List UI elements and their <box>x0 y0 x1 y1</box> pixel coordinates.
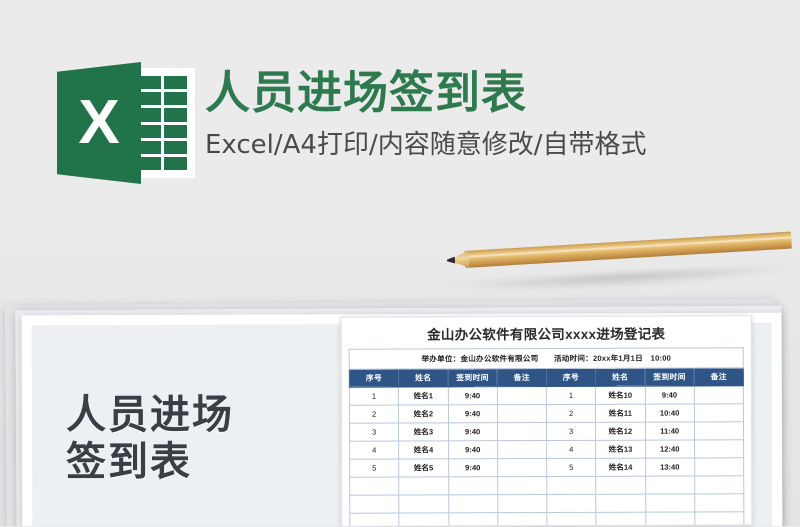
cell-note-right <box>694 476 743 494</box>
column-header-time-right: 签到时间 <box>645 368 694 386</box>
spreadsheet-title: 金山办公软件有限公司xxxx进场登记表 <box>342 316 751 348</box>
cell-name-left <box>399 495 448 513</box>
cell-note-right <box>694 458 743 476</box>
cell-name-right: 姓名12 <box>596 422 645 440</box>
pencil-icon <box>446 232 791 269</box>
table-row: 2 姓名2 9:40 2 姓名11 10:40 <box>349 404 743 423</box>
page-title: 人员进场签到表 <box>205 68 795 118</box>
pencil-wood-cone <box>452 251 469 269</box>
cell-name-right <box>596 476 645 494</box>
cell-seq-left <box>350 477 399 495</box>
cell-name-left <box>399 477 448 495</box>
preview-label-line1: 人员进场 <box>66 392 316 439</box>
table-row: 3 姓名3 9:40 3 姓名12 11:40 <box>350 422 744 441</box>
cell-seq-right <box>547 512 596 526</box>
table-meta-cell: 举办单位：金山办公软件有限公司 活动时间：20xx年1月1日 10:00 <box>349 348 743 369</box>
excel-logo-x-letter: X <box>57 62 141 184</box>
cell-name-right: 姓名13 <box>596 440 645 458</box>
cell-seq-right: 1 <box>546 386 595 404</box>
column-header-seq-left: 序号 <box>349 369 398 387</box>
table-row <box>350 476 744 495</box>
cell-note-left <box>497 423 546 441</box>
table-header-row: 序号 姓名 签到时间 备注 序号 姓名 签到时间 备注 <box>349 368 743 387</box>
cell-time-right <box>645 494 694 512</box>
cell-seq-right: 3 <box>547 422 596 440</box>
column-header-note-left: 备注 <box>497 369 546 387</box>
cell-seq-right <box>547 476 596 494</box>
table-row <box>350 494 744 513</box>
cell-time-right: 13:40 <box>645 458 694 476</box>
pencil-body <box>464 232 791 268</box>
cell-note-left <box>497 405 546 423</box>
cell-note-right <box>694 440 743 458</box>
cell-name-left: 姓名3 <box>399 423 448 441</box>
cell-time-left: 9:40 <box>448 405 497 423</box>
spreadsheet-preview[interactable]: 金山办公软件有限公司xxxx进场登记表 举办单位：金山办公软件有限公司 活动时间… <box>341 315 753 526</box>
cell-note-left <box>497 387 546 405</box>
preview-label: 人员进场 签到表 <box>66 392 316 486</box>
cell-time-right <box>645 512 694 527</box>
cell-time-right <box>645 476 694 494</box>
signin-table-body: 举办单位：金山办公软件有限公司 活动时间：20xx年1月1日 10:00 序号 … <box>349 348 744 527</box>
table-row: 5 姓名5 9:40 5 姓名14 13:40 <box>350 458 744 477</box>
cell-time-left: 9:40 <box>448 387 497 405</box>
cell-time-right: 9:40 <box>645 386 694 404</box>
cell-note-left <box>498 512 547 526</box>
cell-seq-right: 2 <box>546 404 595 422</box>
cell-time-left: 9:40 <box>448 423 497 441</box>
promo-banner: X 人员进场签到表 Excel/A4打印/内容随意修改/自带格式 <box>0 0 800 230</box>
cell-time-right: 10:40 <box>645 404 694 422</box>
cell-name-left: 姓名5 <box>399 459 448 477</box>
cell-name-right <box>596 512 645 527</box>
cell-seq-right: 5 <box>547 458 596 476</box>
page-subtitle: Excel/A4打印/内容随意修改/自带格式 <box>205 124 795 161</box>
cell-time-left <box>448 477 497 495</box>
cell-name-right <box>596 494 645 512</box>
cell-time-left <box>448 495 497 513</box>
table-meta-row: 举办单位：金山办公软件有限公司 活动时间：20xx年1月1日 10:00 <box>349 348 743 369</box>
cell-time-left <box>448 513 497 527</box>
cell-seq-right <box>547 494 596 512</box>
cell-time-left: 9:40 <box>448 441 497 459</box>
cell-time-right: 11:40 <box>645 422 694 440</box>
cell-seq-left: 2 <box>349 405 398 423</box>
pencil-shadow <box>440 265 800 297</box>
cell-seq-left: 1 <box>349 387 398 405</box>
table-row: 1 姓名1 9:40 1 姓名10 9:40 <box>349 386 743 405</box>
cell-name-right: 姓名11 <box>596 404 645 422</box>
pencil-graphite-tip <box>447 257 455 264</box>
cell-seq-left: 5 <box>350 459 399 477</box>
preview-label-line2: 签到表 <box>66 439 316 486</box>
column-header-note-right: 备注 <box>694 368 743 386</box>
cell-seq-left <box>350 495 399 513</box>
column-header-name-right: 姓名 <box>596 368 645 386</box>
cell-time-right: 12:40 <box>645 440 694 458</box>
cell-note-left <box>498 494 547 512</box>
cell-note-right <box>694 404 743 422</box>
cell-note-right <box>694 422 743 440</box>
cell-name-left <box>399 513 448 527</box>
cell-note-right <box>695 512 744 527</box>
cell-name-left: 姓名1 <box>399 387 448 405</box>
signin-table: 举办单位：金山办公软件有限公司 活动时间：20xx年1月1日 10:00 序号 … <box>349 347 745 526</box>
cell-note-right <box>694 386 743 404</box>
cell-name-right: 姓名14 <box>596 458 645 476</box>
cell-note-right <box>695 494 744 512</box>
cell-name-left: 姓名2 <box>399 405 448 423</box>
cell-name-left: 姓名4 <box>399 441 448 459</box>
table-row <box>350 512 744 527</box>
cell-name-right: 姓名10 <box>596 386 645 404</box>
cell-seq-left <box>350 513 399 527</box>
cell-note-left <box>497 458 546 476</box>
cell-note-left <box>497 476 546 494</box>
cell-note-left <box>497 440 546 458</box>
column-header-seq-right: 序号 <box>546 368 595 386</box>
excel-logo: X <box>57 62 195 184</box>
cell-seq-left: 4 <box>350 441 399 459</box>
table-row: 4 姓名4 9:40 4 姓名13 12:40 <box>350 440 744 459</box>
column-header-name-left: 姓名 <box>399 369 448 387</box>
column-header-time-left: 签到时间 <box>448 369 497 387</box>
cell-seq-left: 3 <box>350 423 399 441</box>
excel-logo-grid <box>137 76 187 170</box>
cell-time-left: 9:40 <box>448 459 497 477</box>
headline-block: 人员进场签到表 Excel/A4打印/内容随意修改/自带格式 <box>205 68 795 161</box>
cell-seq-right: 4 <box>547 440 596 458</box>
